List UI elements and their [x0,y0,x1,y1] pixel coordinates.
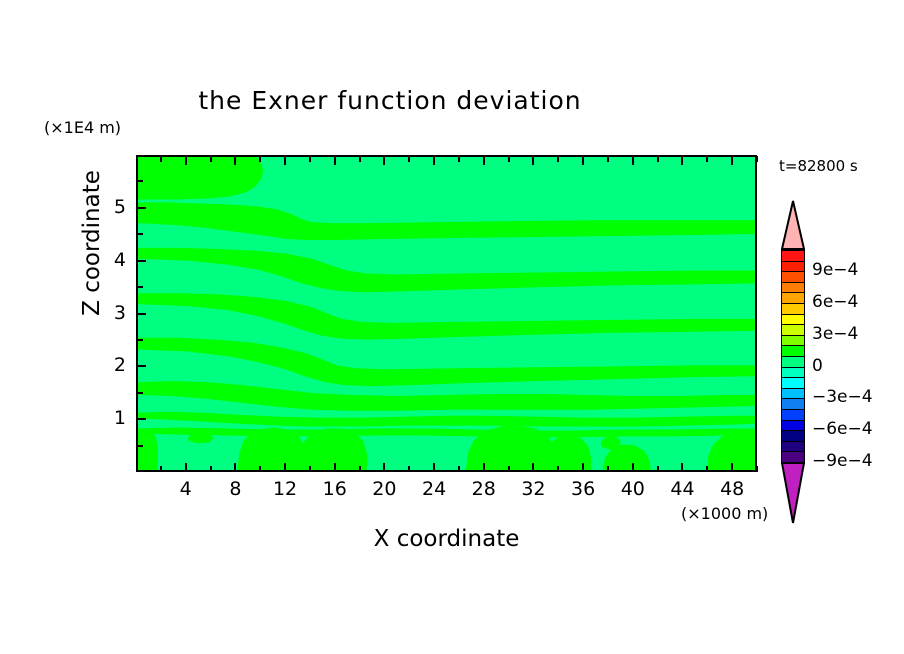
x-axis-minor-tick [557,466,559,472]
x-axis-tick [582,463,584,472]
y-axis-tick [136,260,146,262]
x-axis-minor-tick [259,156,261,162]
y-axis-tick-label: 2 [96,354,126,376]
y-axis-minor-tick [136,233,143,235]
colorbar [781,250,805,462]
colorbar-over-arrow [781,200,805,250]
x-axis-minor-tick [160,466,162,472]
x-axis-minor-tick [607,466,609,472]
x-axis-tick-top [234,156,236,165]
x-axis-minor-tick [458,466,460,472]
x-axis-tick [632,463,634,472]
x-axis-tick-top [284,156,286,165]
x-axis-minor-tick [309,156,311,162]
x-axis-tick-top [383,156,385,165]
y-axis-tick [136,365,146,367]
y-axis-minor-tick [136,180,143,182]
y-axis-unit-label: (×1E4 m) [44,118,121,137]
colorbar-tick-label: 9e−4 [812,260,858,280]
x-axis-minor-tick [359,466,361,472]
x-axis-minor-tick [408,156,410,162]
x-axis-tick-top [532,156,534,165]
x-axis-tick-top [632,156,634,165]
y-axis-tick-label: 5 [96,196,126,218]
colorbar-tick-label: 3e−4 [812,324,858,344]
x-axis-minor-tick [756,156,758,162]
y-axis-minor-tick [136,445,143,447]
x-axis-minor-tick [557,156,559,162]
x-axis-tick-top [185,156,187,165]
x-axis-unit-label: (×1000 m) [681,504,768,523]
x-axis-minor-tick [657,156,659,162]
x-axis-tick-top [334,156,336,165]
x-axis-minor-tick [160,156,162,162]
x-axis-tick-top [681,156,683,165]
contour-plot-area [136,155,757,472]
x-axis-tick-label: 48 [702,478,762,500]
colorbar-under-arrow [781,462,805,524]
y-axis-tick-label: 4 [96,249,126,271]
y-axis-minor-tick [136,392,143,394]
x-axis-minor-tick [210,156,212,162]
y-axis-tick [136,207,146,209]
x-axis-minor-tick [458,156,460,162]
x-axis-tick [681,463,683,472]
x-axis-minor-tick [408,466,410,472]
x-axis-minor-tick [756,466,758,472]
x-axis-tick-top [731,156,733,165]
x-axis-tick-top [582,156,584,165]
x-axis-tick [185,463,187,472]
x-axis-tick [483,463,485,472]
x-axis-minor-tick [210,466,212,472]
x-axis-minor-tick [607,156,609,162]
x-axis-title: X coordinate [136,526,757,552]
x-axis-tick [532,463,534,472]
y-axis-tick [136,313,146,315]
x-axis-minor-tick [508,466,510,472]
colorbar-tick-label: −6e−4 [812,419,873,439]
x-axis-minor-tick [706,156,708,162]
x-axis-minor-tick [309,466,311,472]
x-axis-minor-tick [508,156,510,162]
x-axis-tick [334,463,336,472]
y-axis-minor-tick [136,339,143,341]
colorbar-tick-label: −9e−4 [812,451,873,471]
colorbar-tick-label: 0 [812,356,823,376]
y-axis-tick-label: 3 [96,302,126,324]
x-axis-tick [284,463,286,472]
time-annotation: t=82800 s [779,157,858,175]
page-title: the Exner function deviation [0,86,780,115]
colorbar-tick-label: −3e−4 [812,387,873,407]
x-axis-tick-top [483,156,485,165]
x-axis-minor-tick [359,156,361,162]
x-axis-minor-tick [259,466,261,472]
contour-field [138,157,755,470]
x-axis-tick [383,463,385,472]
x-axis-tick [433,463,435,472]
x-axis-tick [234,463,236,472]
x-axis-minor-tick [657,466,659,472]
colorbar-tick-label: 6e−4 [812,292,858,312]
y-axis-tick [136,418,146,420]
y-axis-tick-label: 1 [96,407,126,429]
y-axis-minor-tick [136,286,143,288]
x-axis-tick-top [433,156,435,165]
x-axis-minor-tick [706,466,708,472]
x-axis-tick [731,463,733,472]
